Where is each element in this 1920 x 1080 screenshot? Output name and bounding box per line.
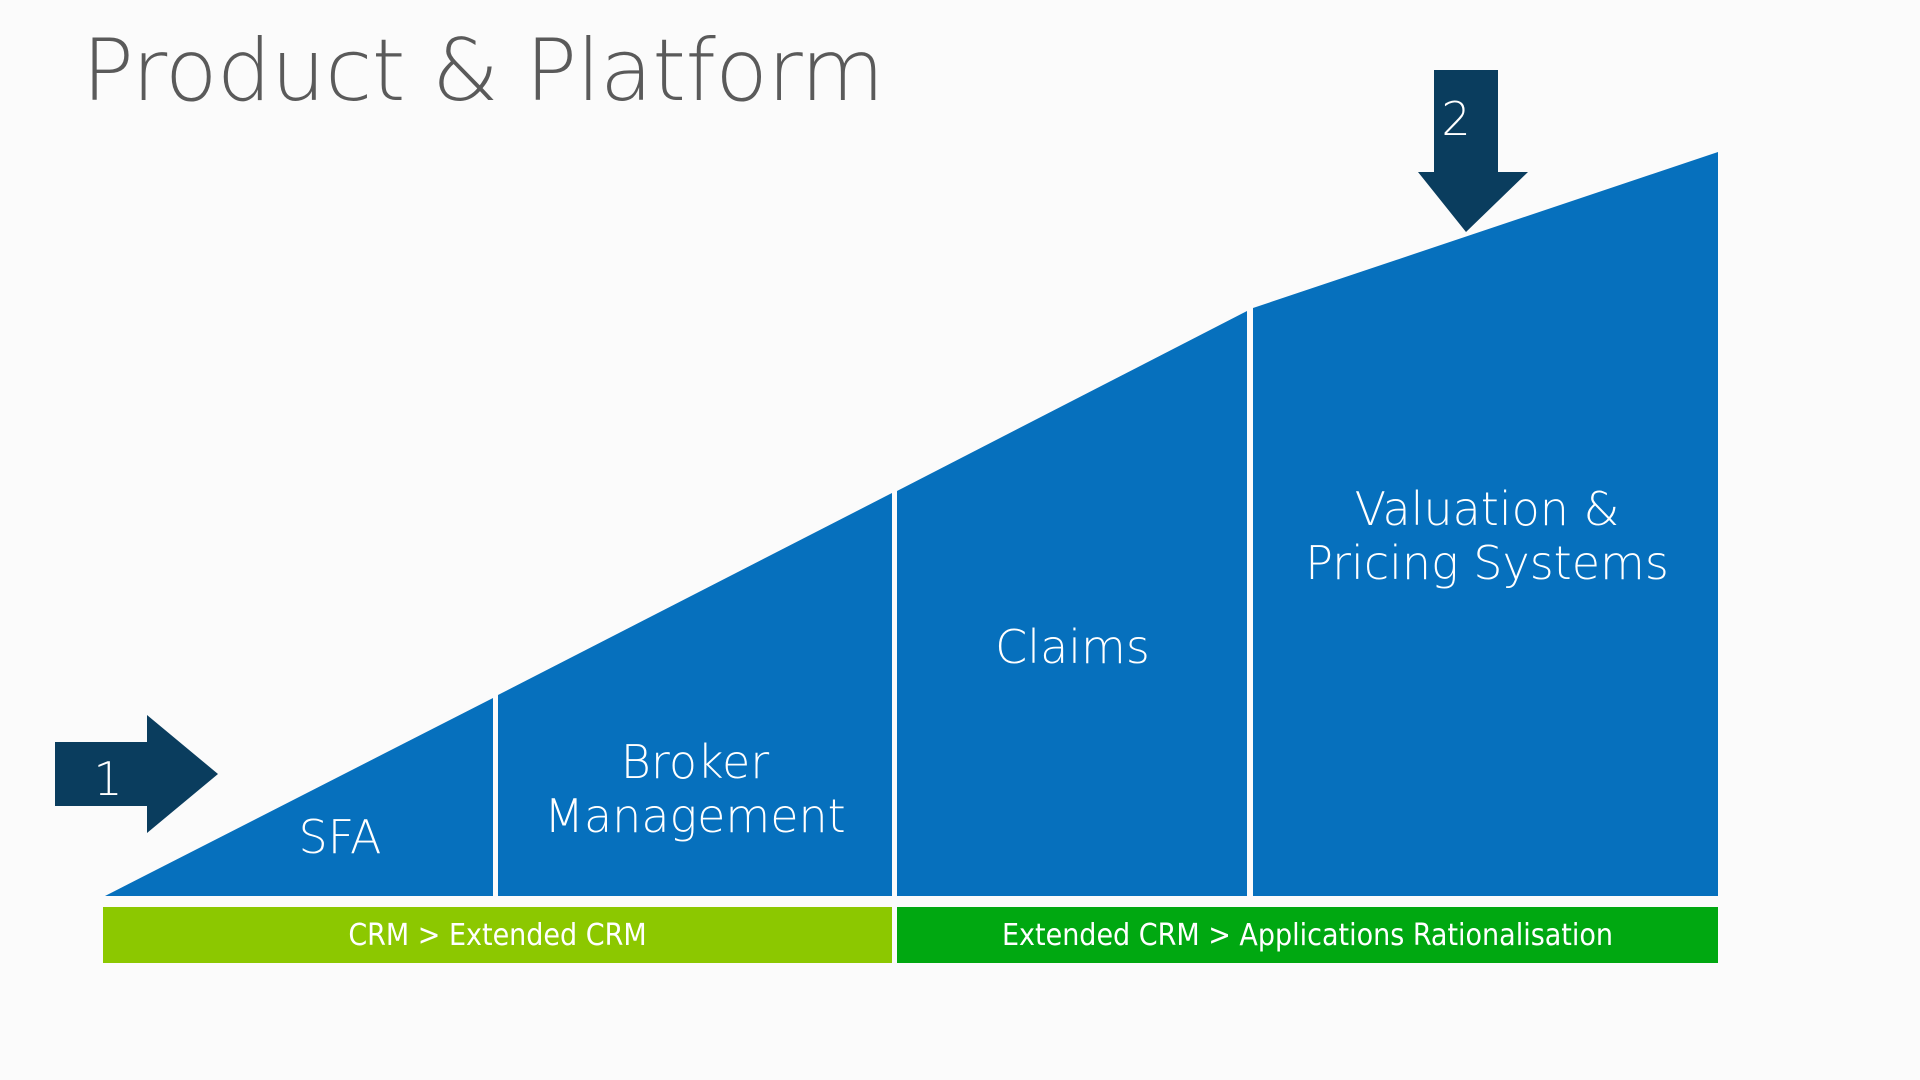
ramp-segment-label-valuation-pricing: Valuation & Pricing Systems bbox=[1258, 482, 1716, 591]
page-title: Product & Platform bbox=[82, 26, 884, 116]
ramp-segment-label-broker-management: Broker Management bbox=[500, 735, 890, 844]
ramp-segment-claims[interactable] bbox=[897, 311, 1247, 896]
slide-canvas: Product & Platform SFA Broker Management… bbox=[0, 0, 1920, 1080]
ramp-segment-label-claims: Claims bbox=[900, 620, 1245, 674]
ramp-segment-label-sfa: SFA bbox=[200, 810, 480, 864]
step-arrow-2[interactable]: 2 bbox=[1414, 70, 1532, 240]
step-arrow-2-number: 2 bbox=[1424, 96, 1488, 142]
phase-bar-label: CRM > Extended CRM bbox=[348, 918, 646, 953]
step-arrow-1[interactable]: 1 bbox=[55, 712, 227, 836]
phase-bar-label: Extended CRM > Applications Rationalisat… bbox=[1002, 918, 1613, 953]
phase-bar-crm-extended-crm[interactable]: CRM > Extended CRM bbox=[103, 907, 892, 963]
step-arrow-1-number: 1 bbox=[73, 756, 143, 802]
phase-bar-extended-crm-applications-rationalisation[interactable]: Extended CRM > Applications Rationalisat… bbox=[897, 907, 1718, 963]
